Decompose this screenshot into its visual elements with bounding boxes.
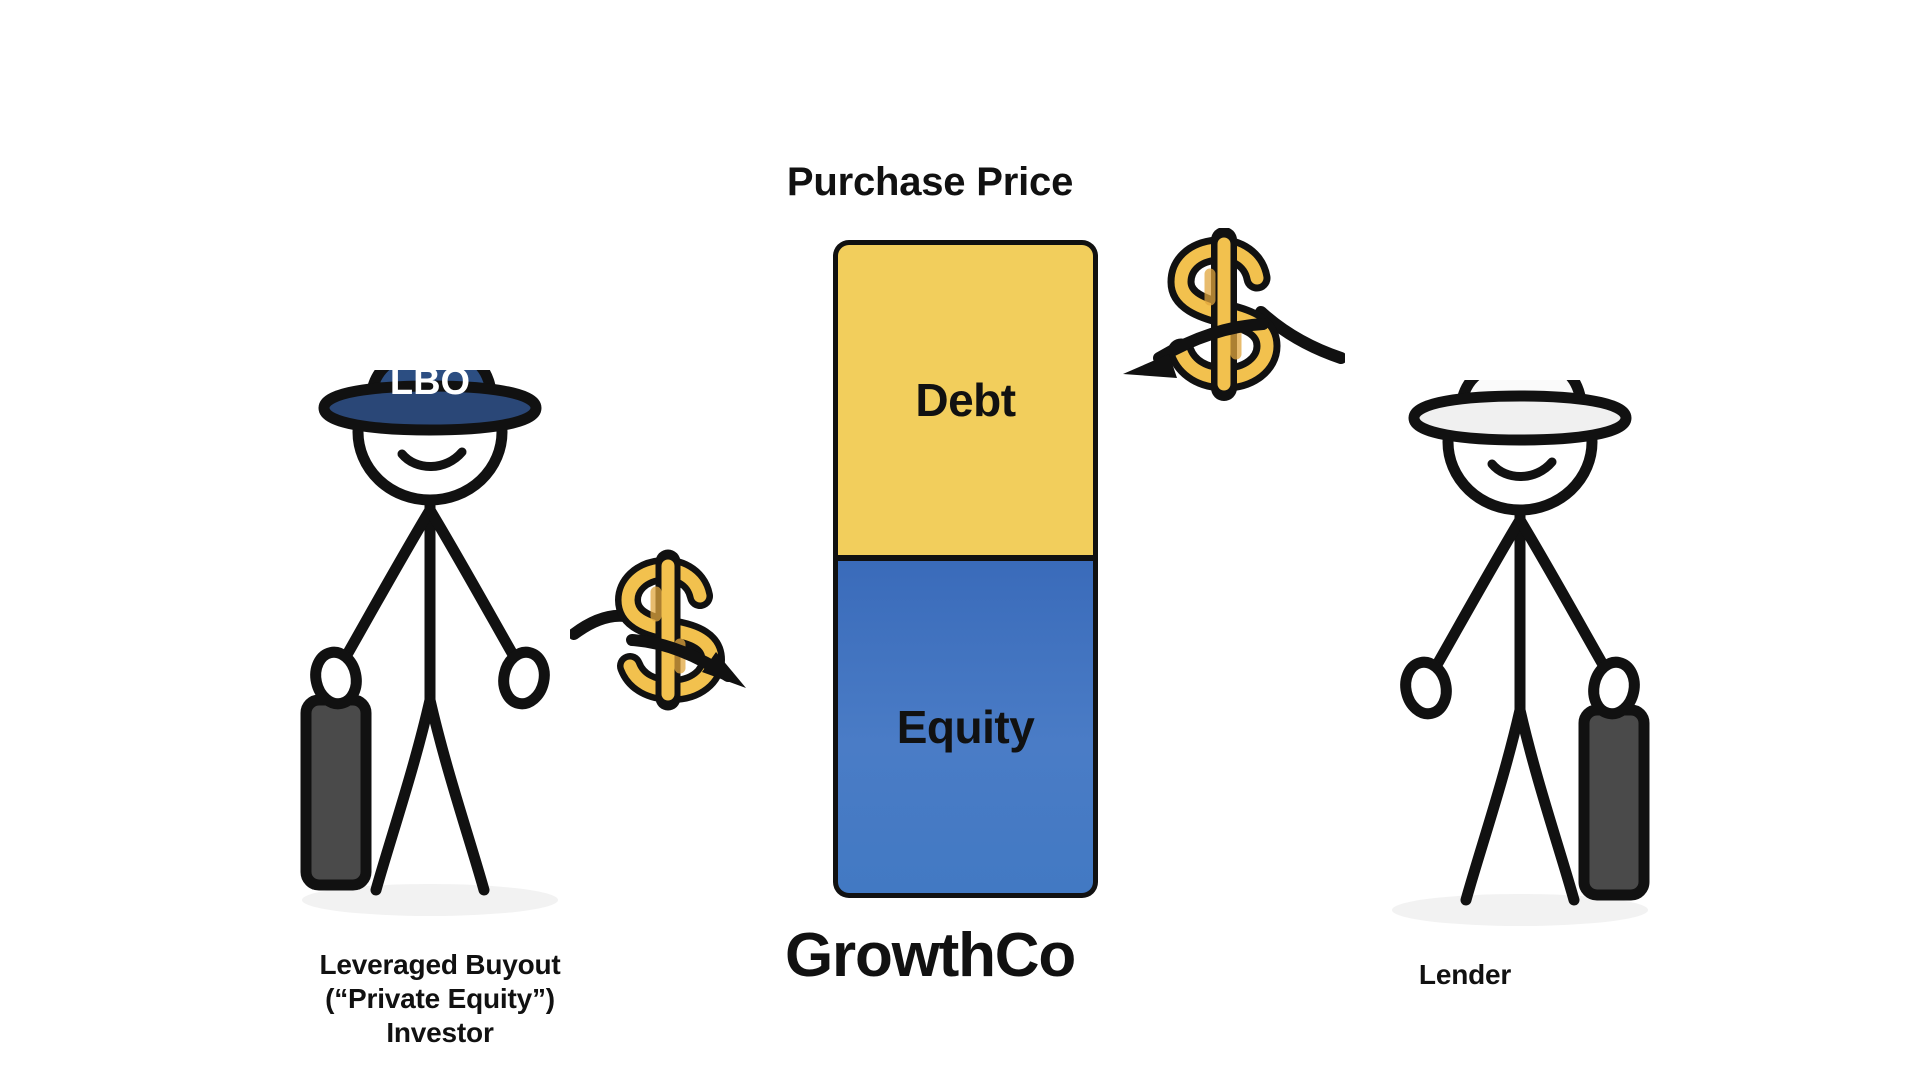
caption-line-1: Leveraged Buyout <box>250 948 630 982</box>
capital-stack-label-equity: Equity <box>897 700 1035 754</box>
caption-lender: Lender <box>1335 958 1595 992</box>
hat-text-lbo: LBO <box>390 370 470 403</box>
money-flow-equity-contribution <box>570 548 790 718</box>
stick-figure-lender <box>1370 380 1670 940</box>
company-name-label: GrowthCo <box>690 918 1170 994</box>
capital-stack-segment-equity: Equity <box>833 558 1098 898</box>
fedora-hat-lender <box>1414 380 1626 440</box>
stick-figure-lbo-investor: LBO <box>280 370 580 930</box>
hand-left-icon <box>1401 658 1451 717</box>
fedora-hat-lbo: LBO <box>324 370 536 430</box>
hand-left-icon <box>311 648 361 707</box>
hand-right-icon <box>1589 658 1639 717</box>
caption-line-1: Lender <box>1335 958 1595 992</box>
caption-lbo-investor: Leveraged Buyout (“Private Equity”) Inve… <box>250 948 630 1050</box>
capital-stack-bar: Debt Equity <box>833 240 1098 898</box>
diagram-canvas: Purchase Price Debt Equity GrowthCo <box>0 0 1920 1080</box>
dollar-sign-icon <box>628 556 712 702</box>
dollar-sign-icon <box>1181 240 1267 388</box>
money-flow-debt-financing <box>1115 228 1345 413</box>
capital-stack-segment-debt: Debt <box>833 240 1098 558</box>
caption-line-2: (“Private Equity”) <box>250 982 630 1016</box>
caption-line-3: Investor <box>250 1016 630 1050</box>
hand-right-icon <box>499 648 549 707</box>
capital-stack-label-debt: Debt <box>915 373 1015 427</box>
purchase-price-title: Purchase Price <box>700 158 1160 207</box>
